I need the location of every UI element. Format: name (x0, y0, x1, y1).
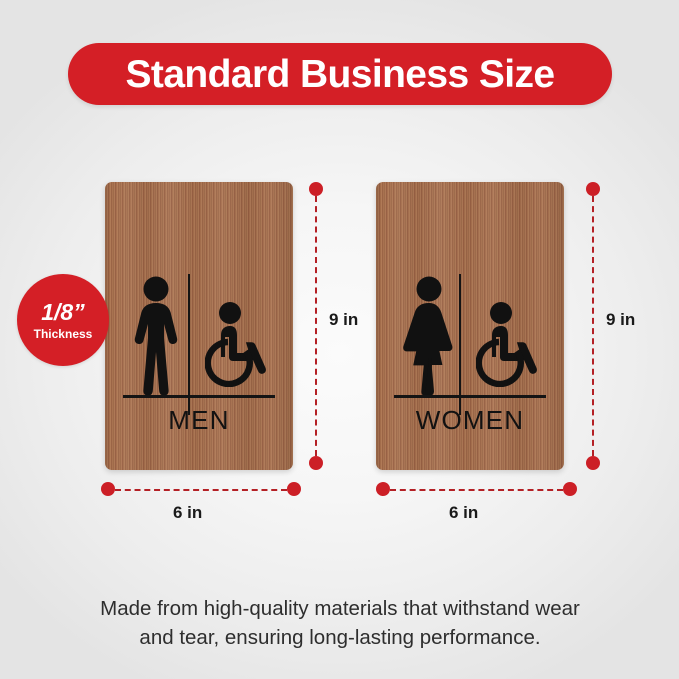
pictogram-group-men (105, 224, 293, 374)
dimension-dot (563, 482, 577, 496)
caption-line-2: and tear, ensuring long-lasting performa… (60, 623, 620, 652)
pictogram-group-women (376, 224, 564, 374)
horizontal-rule (123, 395, 275, 398)
sign-face-women: WOMEN (376, 182, 564, 470)
dimension-dot (376, 482, 390, 496)
dimension-dot (309, 456, 323, 470)
thickness-badge: 1/8” Thickness (17, 274, 109, 366)
dimension-label-women-width: 6 in (449, 503, 478, 523)
male-figure-icon (129, 276, 183, 396)
dimension-line-vertical (315, 196, 317, 456)
dimension-dot (287, 482, 301, 496)
title-banner: Standard Business Size (68, 43, 612, 105)
dimension-label-men-height: 9 in (329, 310, 358, 330)
thickness-value: 1/8” (41, 301, 84, 324)
sign-face-men: MEN (105, 182, 293, 470)
dimension-line-horizontal (390, 489, 563, 491)
horizontal-rule (394, 395, 546, 398)
thickness-label: Thickness (34, 328, 93, 340)
female-figure-icon (400, 276, 458, 396)
wheelchair-icon (205, 301, 273, 387)
vertical-divider (188, 274, 190, 415)
dimension-dot (586, 456, 600, 470)
dimension-dot (309, 182, 323, 196)
sign-plaque-men: MEN (105, 182, 293, 470)
sign-label-men: MEN (105, 404, 293, 437)
caption-line-1: Made from high-quality materials that wi… (60, 594, 620, 623)
vertical-divider (459, 274, 461, 415)
wheelchair-icon (476, 301, 544, 387)
dimension-label-women-height: 9 in (606, 310, 635, 330)
dimension-line-horizontal (115, 489, 287, 491)
product-infographic: Standard Business Size 1/8” Thickness (0, 0, 679, 679)
dimension-label-men-width: 6 in (173, 503, 202, 523)
page-title: Standard Business Size (126, 55, 555, 94)
sign-plaque-women: WOMEN (376, 182, 564, 470)
dimension-line-vertical (592, 196, 594, 456)
sign-label-women: WOMEN (376, 404, 564, 437)
caption: Made from high-quality materials that wi… (60, 594, 620, 652)
dimension-dot (101, 482, 115, 496)
dimension-dot (586, 182, 600, 196)
